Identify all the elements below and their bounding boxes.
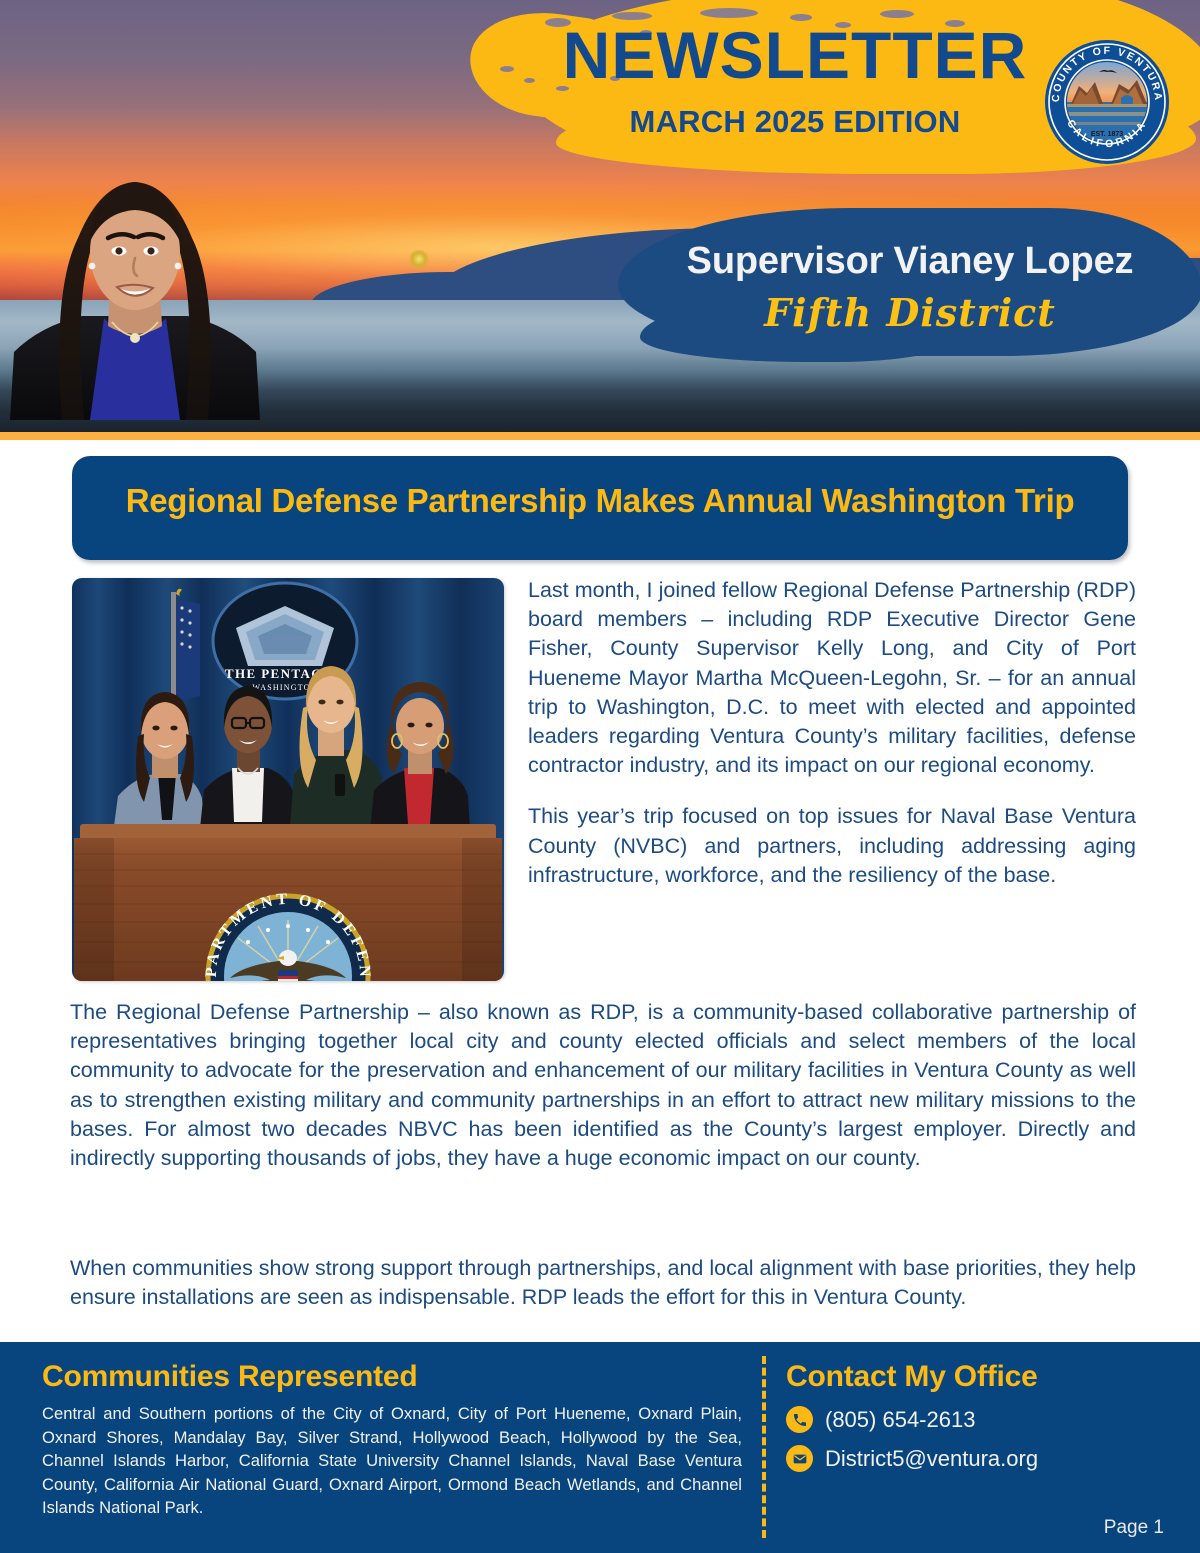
brush-fleck-icon xyxy=(500,66,514,72)
phone-icon xyxy=(786,1406,813,1433)
supervisor-district: Fifth District xyxy=(630,290,1190,335)
article-fullwidth-block-2: When communities show strong support thr… xyxy=(70,1254,1136,1312)
envelope-icon xyxy=(786,1445,813,1472)
contact-phone-number: (805) 654-2613 xyxy=(825,1407,975,1433)
brush-fleck-icon xyxy=(524,78,535,83)
header-gold-rule xyxy=(0,432,1200,440)
water-glint xyxy=(408,250,430,268)
contact-phone-row[interactable]: (805) 654-2613 xyxy=(786,1406,1186,1433)
communities-body: Central and Southern portions of the Cit… xyxy=(42,1402,742,1520)
footer-dashed-divider xyxy=(762,1356,766,1538)
article-fullwidth-block-1: The Regional Defense Partnership – also … xyxy=(70,998,1136,1173)
communities-section: Communities Represented Central and Sout… xyxy=(42,1360,742,1520)
newsletter-footer: Communities Represented Central and Sout… xyxy=(0,1342,1200,1553)
article-headline-banner: Regional Defense Partnership Makes Annua… xyxy=(72,456,1128,560)
contact-title: Contact My Office xyxy=(786,1360,1186,1394)
brush-fleck-icon xyxy=(880,10,914,18)
contact-email-address: District5@ventura.org xyxy=(825,1446,1038,1472)
article-paragraph-3: The Regional Defense Partnership – also … xyxy=(70,998,1136,1173)
seal-established-text: EST. 1873 xyxy=(1091,131,1123,138)
contact-email-row[interactable]: District5@ventura.org xyxy=(786,1445,1186,1472)
article-headline: Regional Defense Partnership Makes Annua… xyxy=(72,482,1128,520)
article-photo-pentagon-podium: THE PENTAGON WASHINGTON xyxy=(72,578,504,981)
newsletter-edition: MARCH 2025 EDITION xyxy=(560,104,1030,140)
article-paragraph-2: This year’s trip focused on top issues f… xyxy=(528,802,1136,890)
page-number: Page 1 xyxy=(1104,1517,1164,1539)
communities-title: Communities Represented xyxy=(42,1360,742,1394)
article-paragraph-1: Last month, I joined fellow Regional Def… xyxy=(528,576,1136,780)
brush-fleck-icon xyxy=(700,8,758,18)
newsletter-header: NEWSLETTER MARCH 2025 EDITION Supervisor… xyxy=(0,0,1200,432)
contact-section: Contact My Office (805) 654-2613 Distric… xyxy=(786,1360,1186,1472)
newsletter-title: NEWSLETTER xyxy=(560,22,1030,88)
supervisor-name: Supervisor Vianey Lopez xyxy=(630,240,1190,283)
supervisor-portrait-photo xyxy=(0,120,270,420)
article-paragraph-4: When communities show strong support thr… xyxy=(70,1254,1136,1312)
article-right-column: Last month, I joined fellow Regional Def… xyxy=(528,576,1136,890)
county-of-ventura-seal-icon: COUNTY OF VENTURA CALIFORNIA EST. 1873 xyxy=(1043,38,1171,166)
